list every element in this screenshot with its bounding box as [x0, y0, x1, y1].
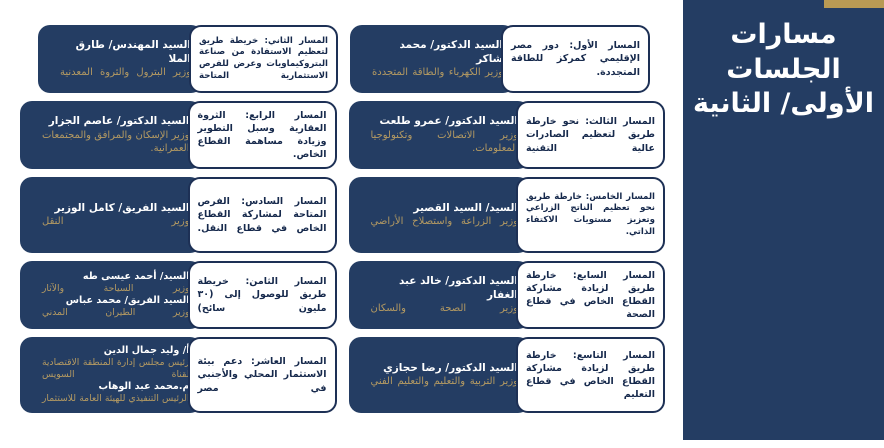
speaker-name-8a: السيد/ أحمد عيسى طه [42, 271, 190, 283]
speaker-role-8a: وزير السياحة والآثار [42, 283, 190, 295]
track-pair-4: المسار الرابع: الثروة العقارية وسبل التط… [20, 101, 337, 169]
speaker-role-1: وزير الكهرباء والطاقة المتجددة [372, 66, 503, 79]
speaker-name-1: السيد الدكتور/ محمد شاكر [372, 39, 503, 66]
speaker-name-4: السيد الدكتور/ عاصم الجزار [42, 115, 190, 129]
speaker-card-5[interactable]: السيد/ السيد القصير وزير الزراعة واستصلا… [349, 177, 531, 253]
track-title-7: المسار السابع: خارطة طريق لزيادة مشاركة … [526, 269, 655, 321]
gold-accent-bar [824, 0, 884, 8]
speaker-card-8[interactable]: السيد/ أحمد عيسى طه وزير السياحة والآثار… [20, 261, 202, 329]
speaker-card-6[interactable]: السيد الفريق/ كامل الوزير وزير النقل [20, 177, 202, 253]
track-card-1[interactable]: المسار الأول: دور مصر الإقليمي كمركز للط… [501, 25, 650, 93]
speaker-card-10[interactable]: أ/ وليد جمال الدين رئيس مجلس إدارة المنط… [20, 337, 202, 413]
speaker-card-3[interactable]: السيد الدكتور/ عمرو طلعت وزير الاتصالات … [349, 101, 531, 169]
track-title-8: المسار الثامن: خريطة طريق للوصول إلى (٣٠… [198, 275, 327, 314]
page-title: مسارات الجلسات الأولى/ الثانية [683, 18, 884, 122]
speaker-role-2: وزير البترول والثروة المعدنية [60, 66, 191, 79]
track-card-4[interactable]: المسار الرابع: الثروة العقارية وسبل التط… [188, 101, 337, 169]
speaker-card-4[interactable]: السيد الدكتور/ عاصم الجزار وزير الإسكان … [20, 101, 202, 169]
track-pair-2: المسار الثاني: خريطة طريق لتعظيم الاستفا… [20, 25, 338, 93]
speaker-card-1[interactable]: السيد الدكتور/ محمد شاكر وزير الكهرباء و… [350, 25, 515, 93]
track-pair-5: المسار الخامس: خارطة طريق نحو تعظيم النا… [349, 177, 666, 253]
speaker-role-10a: رئيس مجلس إدارة المنطقة الاقتصادية لقناة… [42, 357, 190, 381]
speaker-role-5: وزير الزراعة واستصلاح الأراضي [371, 215, 519, 228]
track-pair-3: المسار الثالث: نحو خارطة طريق لتعظيم الص… [349, 101, 666, 169]
track-row: المسار الثالث: نحو خارطة طريق لتعظيم الص… [0, 101, 683, 169]
track-card-9[interactable]: المسار التاسع: خارطة طريق لزيادة مشاركة … [516, 337, 665, 413]
track-pair-9: المسار التاسع: خارطة طريق لزيادة مشاركة … [349, 337, 666, 413]
track-pair-1: المسار الأول: دور مصر الإقليمي كمركز للط… [350, 25, 665, 93]
track-card-10[interactable]: المسار العاشر: دعم بيئة الاستثمار المحلي… [188, 337, 337, 413]
track-pair-10: المسار العاشر: دعم بيئة الاستثمار المحلي… [20, 337, 337, 413]
track-title-2: المسار الثاني: خريطة طريق لتعظيم الاستفا… [199, 36, 328, 82]
track-title-10: المسار العاشر: دعم بيئة الاستثمار المحلي… [198, 355, 327, 394]
speaker-role-3: وزير الاتصالات وتكنولوجيا المعلومات. [371, 129, 519, 155]
track-row: المسار الأول: دور مصر الإقليمي كمركز للط… [0, 25, 683, 93]
track-pair-7: المسار السابع: خارطة طريق لزيادة مشاركة … [349, 261, 666, 329]
speaker-name-5: السيد/ السيد القصير [371, 202, 519, 216]
track-row: المسار الخامس: خارطة طريق نحو تعظيم النا… [0, 177, 683, 253]
track-pair-8: المسار الثامن: خريطة طريق للوصول إلى (٣٠… [20, 261, 337, 329]
track-card-8[interactable]: المسار الثامن: خريطة طريق للوصول إلى (٣٠… [188, 261, 337, 329]
track-card-3[interactable]: المسار الثالث: نحو خارطة طريق لتعظيم الص… [516, 101, 665, 169]
track-title-6: المسار السادس: الفرص المتاحة لمشاركة الق… [198, 195, 327, 234]
track-title-4: المسار الرابع: الثروة العقارية وسبل التط… [198, 109, 327, 161]
track-title-3: المسار الثالث: نحو خارطة طريق لتعظيم الص… [526, 115, 655, 154]
speaker-role-8b: وزير الطيران المدني [42, 307, 190, 319]
speaker-role-9: وزير التربية والتعليم والتعليم الفني [371, 375, 519, 388]
speaker-name-3: السيد الدكتور/ عمرو طلعت [371, 115, 519, 129]
speaker-role-10b: الرئيس التنفيذي للهيئة العامة للاستثمار [42, 393, 190, 405]
speaker-role-7: وزير الصحة والسكان [371, 302, 519, 315]
speaker-name-9: السيد الدكتور/ رضا حجازي [371, 362, 519, 376]
speaker-name-2: السيد المهندس/ طارق الملا [60, 39, 191, 66]
track-title-9: المسار التاسع: خارطة طريق لزيادة مشاركة … [526, 349, 655, 401]
track-title-5: المسار الخامس: خارطة طريق نحو تعظيم النا… [526, 192, 655, 238]
track-row: المسار التاسع: خارطة طريق لزيادة مشاركة … [0, 337, 683, 413]
track-row: المسار السابع: خارطة طريق لزيادة مشاركة … [0, 261, 683, 329]
track-card-5[interactable]: المسار الخامس: خارطة طريق نحو تعظيم النا… [516, 177, 665, 253]
speaker-name-10b: م.محمد عبد الوهاب [42, 381, 190, 393]
speaker-card-2[interactable]: السيد المهندس/ طارق الملا وزير البترول و… [38, 25, 203, 93]
slide-root: مسارات الجلسات الأولى/ الثانية المسار ال… [0, 0, 884, 448]
speaker-role-4: وزير الإسكان والمرافق والمجتمعات العمران… [42, 129, 190, 155]
speaker-name-8b: السيد الفريق/ محمد عباس [42, 295, 190, 307]
speaker-role-6: وزير النقل [42, 215, 190, 228]
session-tracks-title-panel: مسارات الجلسات الأولى/ الثانية [683, 0, 884, 440]
track-card-6[interactable]: المسار السادس: الفرص المتاحة لمشاركة الق… [188, 177, 337, 253]
track-card-2[interactable]: المسار الثاني: خريطة طريق لتعظيم الاستفا… [189, 25, 338, 93]
speaker-card-7[interactable]: السيد الدكتور/ خالد عبد الغفار وزير الصح… [349, 261, 531, 329]
track-card-7[interactable]: المسار السابع: خارطة طريق لزيادة مشاركة … [516, 261, 665, 329]
tracks-grid: المسار الأول: دور مصر الإقليمي كمركز للط… [0, 0, 683, 448]
speaker-card-9[interactable]: السيد الدكتور/ رضا حجازي وزير التربية وا… [349, 337, 531, 413]
speaker-name-6: السيد الفريق/ كامل الوزير [42, 202, 190, 216]
speaker-name-10a: أ/ وليد جمال الدين [42, 345, 190, 357]
speaker-name-7: السيد الدكتور/ خالد عبد الغفار [371, 275, 519, 302]
track-title-1: المسار الأول: دور مصر الإقليمي كمركز للط… [511, 39, 640, 78]
track-pair-6: المسار السادس: الفرص المتاحة لمشاركة الق… [20, 177, 337, 253]
